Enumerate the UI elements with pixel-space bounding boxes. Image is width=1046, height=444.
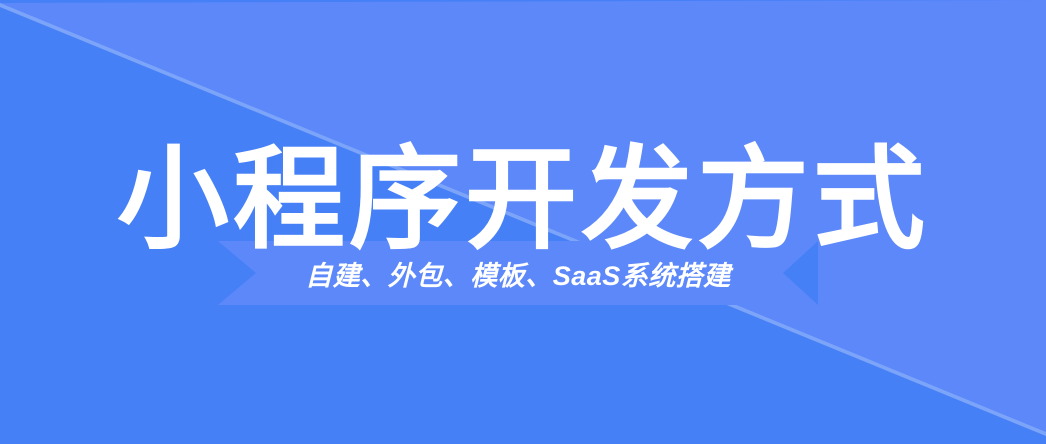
banner-subtitle: 自建、外包、模板、SaaS系统搭建 <box>218 241 818 305</box>
promotional-banner: 小程序开发方式 自建、外包、模板、SaaS系统搭建 <box>0 0 1046 444</box>
